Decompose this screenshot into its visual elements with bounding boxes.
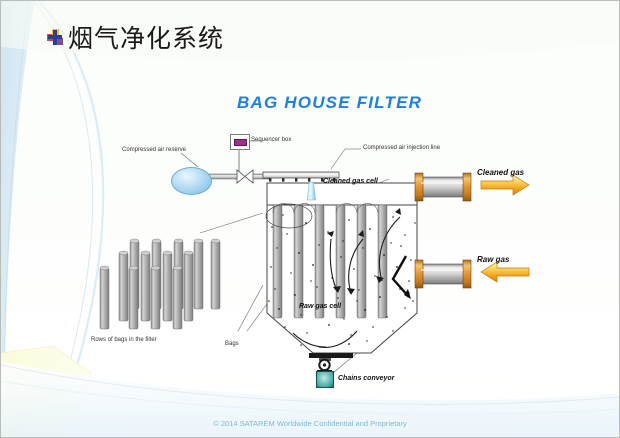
label-raw-gas-cell: Raw gas cell <box>299 303 341 310</box>
cleaned-gas-arrow <box>481 175 529 195</box>
sequencer-box-icon <box>230 134 250 150</box>
footer-copyright: © 2014 SATAREM Worldwide Confidential an… <box>1 419 619 428</box>
bag-house-filter-diagram <box>1 1 620 438</box>
label-cleaned-gas-cell: Cleaned gas cell <box>323 178 378 185</box>
chains-conveyor-unit <box>316 371 334 388</box>
slide-canvas: 烟气净化系统 BAG HOUSE FILTER <box>0 0 620 438</box>
label-chains-conveyor: Chains conveyor <box>338 375 394 382</box>
sequencer-indicator <box>234 139 247 146</box>
label-compressed-air-injection-line: Compressed air injection line <box>363 145 440 151</box>
label-cleaned-gas: Cleaned gas <box>477 169 524 177</box>
label-bags: Bags <box>225 341 239 347</box>
label-compressed-air-reserve: Compressed air reserve <box>122 147 186 153</box>
label-sequencer-box: Sequencer box <box>251 137 291 143</box>
label-raw-gas: Raw gas <box>477 256 509 264</box>
raw-gas-arrow <box>481 262 529 282</box>
compressed-air-reserve-tank <box>171 167 212 195</box>
label-rows-of-bags-in-the-filter: Rows of bags in the filter <box>91 337 157 343</box>
